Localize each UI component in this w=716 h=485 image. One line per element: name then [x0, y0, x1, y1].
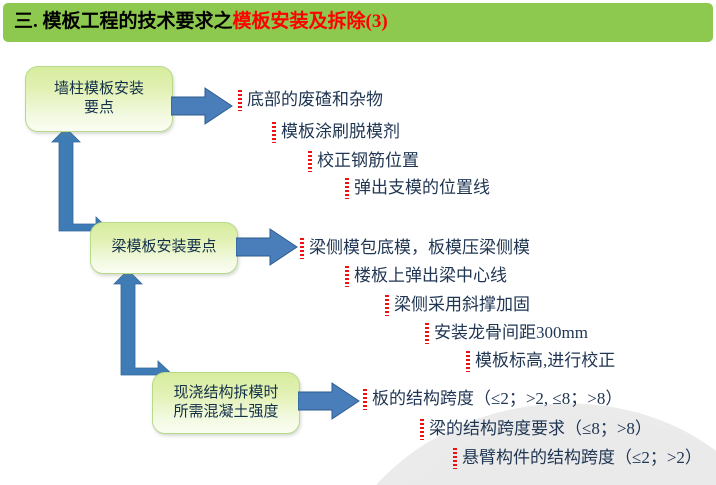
node-box-label: 墙柱模板安装 要点: [54, 80, 144, 118]
red-dotted-bullet-icon: [272, 122, 276, 143]
list-item: 模板涂刷脱模剂: [272, 122, 400, 143]
list-item-label: 悬臂构件的结构跨度（≤2；>2）: [462, 449, 702, 468]
list-item: 楼板上弹出梁中心线: [345, 266, 507, 287]
list-item: 底部的废碴和杂物: [238, 90, 383, 111]
list-item: 板的结构跨度（≤2；>2, ≤8；>8）: [363, 389, 622, 410]
page-title-prefix: 三. 模板工程的技术要求之: [14, 11, 233, 32]
node-box-concrete-strength[interactable]: 现浇结构拆模时 所需混凝土强度: [152, 372, 300, 434]
right-block-arrow-icon: [171, 87, 233, 125]
red-dotted-bullet-icon: [466, 351, 470, 372]
list-item-label: 板的结构跨度（≤2；>2, ≤8；>8）: [372, 390, 622, 409]
red-dotted-bullet-icon: [420, 419, 424, 440]
list-item-label: 模板标高,进行校正: [475, 352, 615, 371]
node-box-label: 梁模板安装要点: [111, 238, 216, 257]
list-item: 模板标高,进行校正: [466, 351, 615, 372]
list-item: 弹出支模的位置线: [345, 178, 490, 199]
list-item-label: 梁的结构跨度要求（≤8；>8）: [429, 420, 652, 439]
list-item-label: 安装龙骨间距300mm: [434, 324, 588, 343]
page-title: 三. 模板工程的技术要求之模板安装及拆除(3): [14, 6, 388, 33]
red-dotted-bullet-icon: [425, 323, 429, 344]
list-item-label: 模板涂刷脱模剂: [281, 123, 400, 142]
right-block-arrow-icon: [236, 228, 298, 266]
list-item: 梁侧采用斜撑加固: [385, 295, 530, 316]
list-item-label: 楼板上弹出梁中心线: [354, 267, 507, 286]
red-dotted-bullet-icon: [345, 266, 349, 287]
node-box-beam-formwork[interactable]: 梁模板安装要点: [90, 222, 238, 274]
list-item: 悬臂构件的结构跨度（≤2；>2）: [453, 448, 702, 469]
red-dotted-bullet-icon: [363, 389, 367, 410]
node-box-wall-column-formwork[interactable]: 墙柱模板安装 要点: [25, 66, 173, 132]
red-dotted-bullet-icon: [300, 238, 304, 259]
list-item: 校正钢筋位置: [308, 151, 419, 172]
red-dotted-bullet-icon: [345, 178, 349, 199]
red-dotted-bullet-icon: [385, 295, 389, 316]
red-dotted-bullet-icon: [308, 151, 312, 172]
node-box-label: 现浇结构拆模时 所需混凝土强度: [173, 384, 278, 422]
right-block-arrow-icon: [298, 382, 360, 420]
red-dotted-bullet-icon: [238, 90, 242, 111]
red-dotted-bullet-icon: [453, 448, 457, 469]
list-item-label: 梁侧模包底模，板模压梁侧模: [309, 239, 530, 258]
list-item: 梁侧模包底模，板模压梁侧模: [300, 238, 530, 259]
list-item: 梁的结构跨度要求（≤8；>8）: [420, 419, 652, 440]
list-item-label: 底部的废碴和杂物: [247, 91, 383, 110]
slide-canvas: 三. 模板工程的技术要求之模板安装及拆除(3) 墙柱模板安装 要点 梁模板安装要…: [0, 0, 716, 485]
list-item-label: 校正钢筋位置: [317, 152, 419, 171]
list-item-label: 弹出支模的位置线: [354, 179, 490, 198]
list-item-label: 梁侧采用斜撑加固: [394, 296, 530, 315]
page-title-highlight: 模板安装及拆除(3): [233, 11, 388, 32]
list-item: 安装龙骨间距300mm: [425, 323, 588, 344]
elbow-up-arrow-icon: [110, 270, 220, 382]
